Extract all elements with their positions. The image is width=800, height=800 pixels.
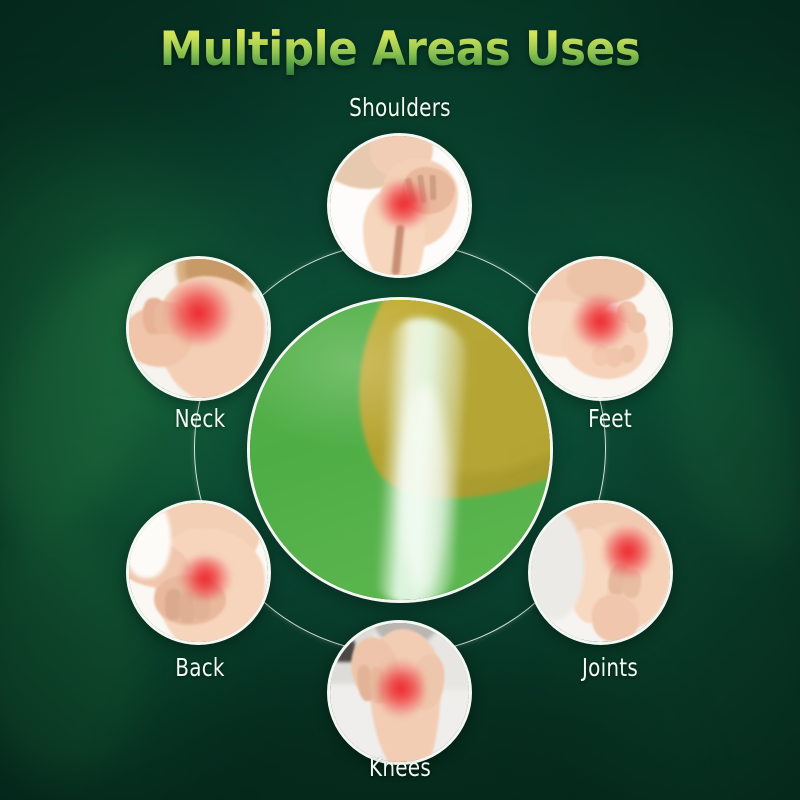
area-circle-shoulders[interactable] <box>327 133 472 278</box>
area-circle-joints[interactable] <box>528 500 673 645</box>
foot-pain-photo <box>531 259 670 398</box>
pain-highlight <box>573 295 629 348</box>
area-circle-neck[interactable] <box>126 256 271 401</box>
neck-pain-photo <box>129 259 268 398</box>
area-circle-knees[interactable] <box>327 620 472 765</box>
product-infographic-poster: Multiple Areas Uses Shoulders <box>0 0 800 800</box>
area-label-knees: Knees <box>320 753 480 782</box>
center-product-circle <box>247 297 553 603</box>
pain-highlight <box>377 659 424 717</box>
back-pain-photo <box>129 503 268 642</box>
pain-highlight <box>603 525 653 578</box>
area-label-feet: Feet <box>538 404 682 433</box>
joint-pain-photo <box>531 503 670 642</box>
pain-highlight <box>165 281 232 345</box>
shoulder-pain-photo <box>330 136 469 275</box>
pain-highlight <box>377 180 430 227</box>
pain-highlight <box>179 556 232 600</box>
area-label-shoulders: Shoulders <box>320 93 480 122</box>
area-label-back: Back <box>128 653 272 682</box>
area-circle-feet[interactable] <box>528 256 673 401</box>
knee-pain-photo <box>330 623 469 762</box>
gel-specular-shine <box>250 300 550 600</box>
area-circle-back[interactable] <box>126 500 271 645</box>
page-title: Multiple Areas Uses <box>28 24 772 76</box>
area-label-joints: Joints <box>538 653 682 682</box>
area-label-neck: Neck <box>128 404 272 433</box>
